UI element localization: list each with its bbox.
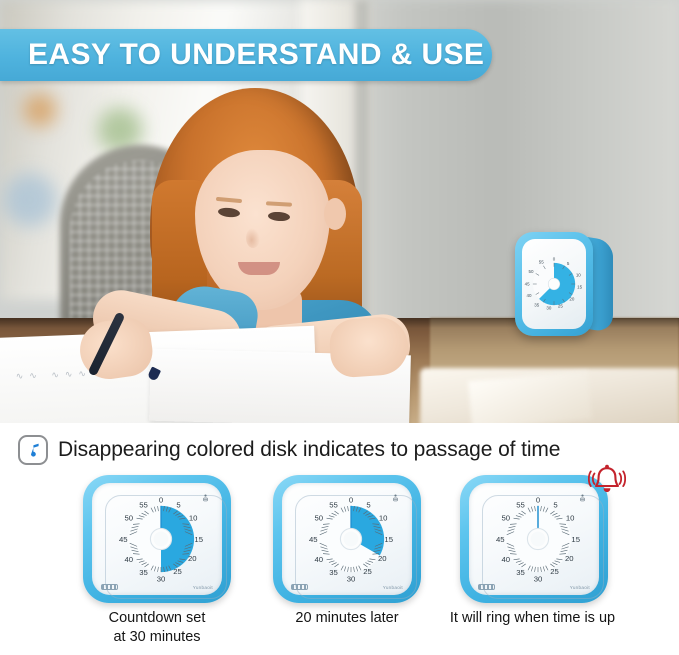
svg-text:5: 5 [567,261,570,266]
paper-scribble: ∿∿ ∿∿∿ [16,368,93,382]
timer-device: 0 5 10 15 20 25 30 35 40 45 [273,475,421,603]
bottom-section: Disappearing colored disk indicates to p… [0,423,679,655]
svg-text:35: 35 [329,568,338,577]
product-timer-body: 0510 152025 303540 455055 [515,232,593,336]
svg-text:50: 50 [528,269,533,274]
svg-text:40: 40 [527,293,532,298]
timer-face-panel: 0 5 10 15 20 25 30 35 40 45 [469,483,599,595]
svg-text:20: 20 [378,554,387,563]
timer-device: 0 5 10 15 20 25 30 35 40 45 [83,475,231,603]
headline-banner: EASY TO UNDERSTAND & USE [0,29,492,81]
svg-text:40: 40 [315,555,324,564]
product-dial: 0510 152025 303540 455055 [522,239,586,329]
card-caption: It will ring when time is up [415,609,650,628]
svg-text:20: 20 [565,554,574,563]
timer-dial: 0 5 10 15 20 25 30 35 40 45 [305,493,397,585]
product-timer-on-table: 0510 152025 303540 455055 [515,232,611,336]
svg-text:10: 10 [379,514,388,523]
timer-card: 0 5 10 15 20 25 30 35 40 45 [252,475,442,603]
svg-text:45: 45 [119,535,128,544]
infographic-page: ∿∿ ∿∿∿ ∿∿ ∿ [0,0,679,655]
svg-text:30: 30 [534,574,543,583]
timer-face-panel: 0 5 10 15 20 25 30 35 40 45 [282,483,412,595]
svg-text:0: 0 [159,496,163,505]
svg-text:35: 35 [516,568,525,577]
battery-indicator [101,584,118,590]
svg-text:40: 40 [502,555,511,564]
caption-line-2: at 30 minutes [62,628,252,647]
svg-text:25: 25 [173,567,182,576]
svg-text:10: 10 [189,514,198,523]
svg-text:20: 20 [188,554,197,563]
svg-text:55: 55 [516,500,525,509]
svg-text:5: 5 [366,500,370,509]
brand-label: Yunbaoit [383,585,403,590]
svg-text:30: 30 [347,574,356,583]
battery-indicator [291,584,308,590]
music-note-icon [18,435,48,465]
svg-text:25: 25 [550,567,559,576]
brand-label: Yunbaoit [570,585,590,590]
timer-device: 0 5 10 15 20 25 30 35 40 45 [460,475,608,603]
timer-dial: 0 5 10 15 20 25 30 35 40 45 [492,493,584,585]
svg-text:50: 50 [315,514,324,523]
battery-indicator [478,584,495,590]
svg-text:5: 5 [553,500,557,509]
svg-text:20: 20 [569,297,574,302]
svg-text:35: 35 [139,568,148,577]
svg-text:50: 50 [125,514,134,523]
card-caption: Countdown set at 30 minutes [62,609,252,646]
svg-text:25: 25 [558,304,563,309]
svg-text:55: 55 [329,500,338,509]
open-book-page [468,371,592,423]
product-timer-face: 0510 152025 303540 455055 [522,239,586,329]
brand-label: Yunbaoit [193,585,213,590]
caption-line-1: Countdown set [109,610,206,626]
timer-card: 0 5 10 15 20 25 30 35 40 45 [439,475,629,603]
svg-text:45: 45 [496,535,505,544]
caption-line-1: It will ring when time is up [450,610,615,626]
svg-text:40: 40 [125,555,134,564]
svg-text:30: 30 [546,306,551,311]
card-caption: 20 minutes later [252,609,442,628]
svg-text:15: 15 [571,535,580,544]
feature-headline-row: Disappearing colored disk indicates to p… [18,435,560,465]
girl-nose [246,228,260,248]
alarm-bell-icon [588,463,626,497]
svg-text:35: 35 [534,302,539,307]
svg-text:50: 50 [502,514,511,523]
svg-text:0: 0 [536,496,540,505]
svg-text:30: 30 [157,574,166,583]
svg-text:10: 10 [566,514,575,523]
svg-text:15: 15 [577,284,582,289]
svg-text:15: 15 [194,535,203,544]
svg-text:5: 5 [176,500,180,509]
svg-text:55: 55 [539,260,544,265]
timer-face-panel: 0 5 10 15 20 25 30 35 40 45 [92,483,222,595]
girl-ear [324,198,346,230]
svg-text:55: 55 [139,500,148,509]
svg-text:0: 0 [349,496,353,505]
girl-mouth [238,262,280,275]
svg-text:25: 25 [363,567,372,576]
svg-text:45: 45 [525,281,530,286]
caption-line-1: 20 minutes later [295,610,398,626]
svg-text:15: 15 [384,535,393,544]
feature-headline-text: Disappearing colored disk indicates to p… [58,438,560,462]
svg-text:10: 10 [576,272,581,277]
timer-card: 0 5 10 15 20 25 30 35 40 45 [62,475,252,603]
svg-text:45: 45 [309,535,318,544]
banner-title: EASY TO UNDERSTAND & USE [0,38,484,72]
timer-dial: 0 5 10 15 20 25 30 35 40 45 [115,493,207,585]
timer-card-row: 0 5 10 15 20 25 30 35 40 45 [0,475,679,655]
svg-text:0: 0 [553,256,556,261]
